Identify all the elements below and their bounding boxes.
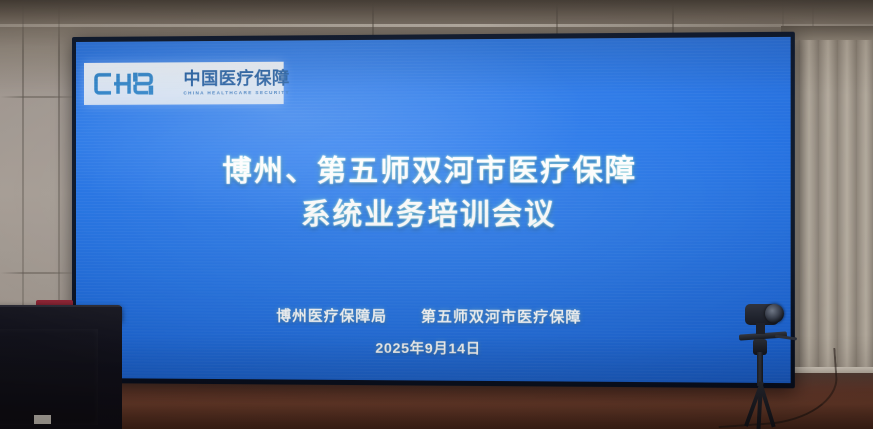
- conference-room-photo: 中国医疗保障 CHINA HEALTHCARE SECURITY 博州、第五师双…: [0, 0, 873, 429]
- photo-vignette: [0, 0, 873, 429]
